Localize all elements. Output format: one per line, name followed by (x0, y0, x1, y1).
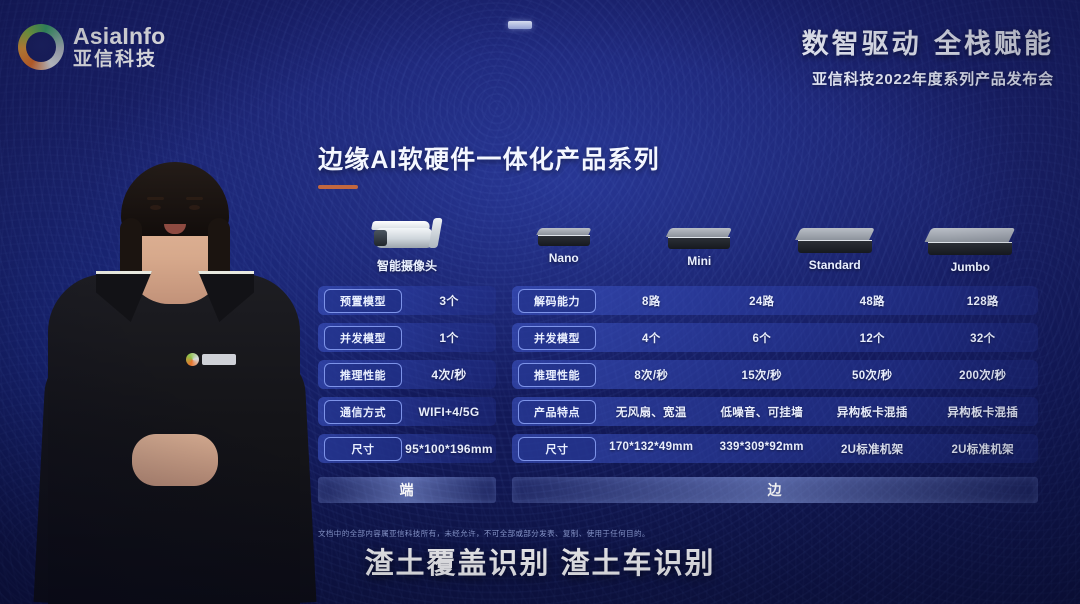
spec-value: 2U标准机架 (928, 441, 1039, 457)
slogan-headline: 数智驱动 全栈赋能 (802, 22, 1054, 61)
title-underline (318, 185, 358, 189)
table-row: 并发模型 1个 (318, 323, 496, 352)
asiainfo-logo: AsiaInfo 亚信科技 (18, 24, 165, 71)
top-center-indicator (508, 21, 532, 29)
server-nano-icon (538, 228, 590, 246)
device-camera: 智能摄像头 (318, 218, 496, 274)
copyright-disclaimer: 文档中的全部内容属亚信科技所有，未经允许，不可全部或部分发表、复制、使用于任何目… (318, 528, 650, 539)
device-standard-label: Standard (809, 258, 861, 272)
table-row: 解码能力 8路 24路 48路 128路 (512, 286, 1038, 315)
table-row: 尺寸 95*100*196mm (318, 434, 496, 463)
spec-label: 产品特点 (518, 400, 596, 424)
spec-value: 48路 (817, 293, 928, 309)
spec-label: 并发模型 (324, 326, 402, 350)
spec-value: 1个 (402, 329, 496, 346)
spec-label: 并发模型 (518, 326, 596, 350)
spec-value: WIFI+4/5G (402, 405, 496, 419)
device-nano-label: Nano (549, 251, 579, 265)
presenter-figure (40, 149, 310, 604)
spec-value: 异构板卡混插 (928, 404, 1039, 420)
spec-label: 通信方式 (324, 400, 402, 424)
presentation-stage: AsiaInfo 亚信科技 数智驱动 全栈赋能 亚信科技2022年度系列产品发布… (0, 0, 1080, 604)
spec-value: 32个 (928, 330, 1039, 346)
device-standard: Standard (767, 228, 903, 274)
table-row: 通信方式 WIFI+4/5G (318, 397, 496, 426)
spec-value: 4个 (596, 330, 707, 346)
spec-value: 170*132*49mm (596, 441, 707, 457)
presenter-eye-right (189, 205, 200, 210)
slide-title: 边缘AI软硬件一体化产品系列 (318, 140, 1038, 176)
spec-value: 15次/秒 (707, 367, 818, 383)
spec-value: 无风扇、宽温 (596, 404, 707, 420)
table-row: 并发模型 4个 6个 12个 32个 (512, 323, 1038, 352)
presenter-eyebrow-left (147, 197, 164, 200)
table-row: 预置模型 3个 (318, 286, 496, 315)
spec-value: 低噪音、可挂墙 (707, 404, 818, 420)
spec-value: 95*100*196mm (402, 442, 496, 456)
ip-camera-icon (370, 218, 444, 252)
product-comparison: 智能摄像头 Nano Mini Standard (318, 212, 1038, 503)
device-jumbo-label: Jumbo (951, 260, 990, 274)
presenter-eye-left (150, 205, 161, 210)
spec-value: 8次/秒 (596, 367, 707, 383)
device-mini-label: Mini (687, 254, 711, 268)
table-row: 推理性能 4次/秒 (318, 360, 496, 389)
presenter-shirt-logo-icon (186, 353, 236, 366)
brand-name-cn: 亚信科技 (73, 49, 165, 71)
spec-value: 24路 (707, 293, 818, 309)
spec-value: 12个 (817, 330, 928, 346)
brand-name-en: AsiaInfo (73, 24, 165, 48)
spec-value: 3个 (402, 292, 496, 309)
device-header-row: 智能摄像头 Nano Mini Standard (318, 212, 1038, 274)
category-bar-edge: 边 (512, 477, 1038, 503)
spec-value: 8路 (596, 293, 707, 309)
device-camera-label: 智能摄像头 (377, 257, 437, 274)
slogan-subline: 亚信科技2022年度系列产品发布会 (802, 68, 1054, 89)
spec-label: 解码能力 (518, 289, 596, 313)
spec-label: 推理性能 (324, 363, 402, 387)
table-row: 产品特点 无风扇、宽温 低噪音、可挂墙 异构板卡混插 异构板卡混插 (512, 397, 1038, 426)
spec-value: 2U标准机架 (817, 441, 928, 457)
spec-value: 128路 (928, 293, 1039, 309)
presenter-eyebrow-right (186, 197, 203, 200)
device-mini: Mini (632, 228, 768, 274)
spec-label: 预置模型 (324, 289, 402, 313)
spec-label: 推理性能 (518, 363, 596, 387)
device-jumbo: Jumbo (903, 228, 1039, 274)
spec-value: 异构板卡混插 (817, 404, 928, 420)
server-standard-icon (798, 228, 872, 253)
category-bars: 端 边 (318, 477, 1038, 503)
server-jumbo-icon (928, 228, 1012, 255)
presenter-hands (132, 434, 218, 486)
spec-label: 尺寸 (324, 437, 402, 461)
device-nano: Nano (496, 228, 632, 274)
spec-label: 尺寸 (518, 437, 596, 461)
category-bar-terminal: 端 (318, 477, 496, 503)
spec-tables: 预置模型 3个 并发模型 1个 推理性能 4次/秒 通信方式 WIFI+4/5G (318, 286, 1038, 471)
spec-value: 200次/秒 (928, 367, 1039, 383)
slide-content: 边缘AI软硬件一体化产品系列 智能摄像头 Nano (318, 140, 1038, 560)
spec-value: 339*309*92mm (707, 441, 818, 457)
event-slogan: 数智驱动 全栈赋能 亚信科技2022年度系列产品发布会 (802, 22, 1054, 89)
spec-value: 6个 (707, 330, 818, 346)
table-row: 推理性能 8次/秒 15次/秒 50次/秒 200次/秒 (512, 360, 1038, 389)
spec-value: 4次/秒 (402, 366, 496, 383)
spec-value: 50次/秒 (817, 367, 928, 383)
table-row: 尺寸 170*132*49mm 339*309*92mm 2U标准机架 2U标准… (512, 434, 1038, 463)
server-mini-icon (668, 228, 730, 249)
spec-table-edge-device: 预置模型 3个 并发模型 1个 推理性能 4次/秒 通信方式 WIFI+4/5G (318, 286, 496, 471)
spec-table-edge-servers: 解码能力 8路 24路 48路 128路 并发模型 4个 6个 (512, 286, 1038, 471)
video-caption: 渣土覆盖识别 渣土车识别 (0, 540, 1080, 582)
asiainfo-logo-icon (18, 24, 64, 70)
